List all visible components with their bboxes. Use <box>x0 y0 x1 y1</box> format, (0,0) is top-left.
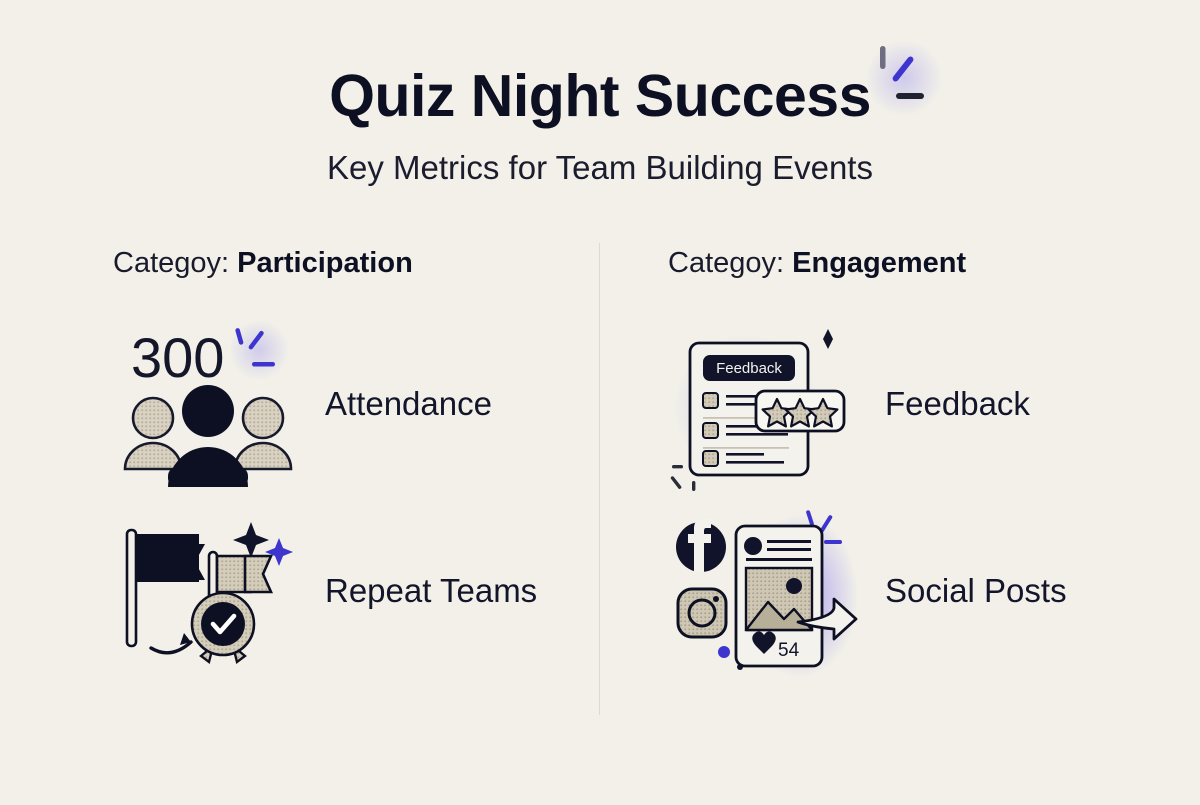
people-group-icon: 300 <box>113 317 303 492</box>
sparkle-dashes-icon <box>859 38 949 128</box>
title-row: Quiz Night Success <box>329 66 871 128</box>
feedback-card-title-text: Feedback <box>716 360 782 377</box>
metric-repeat-teams: Repeat Teams <box>113 504 613 679</box>
category-label: Categoy: <box>668 247 792 279</box>
metric-label-attendance: Attendance <box>325 386 492 422</box>
category-heading-engagement: Categoy: Engagement <box>668 246 1168 281</box>
social-post-icon: 54 <box>668 504 863 679</box>
attendance-value-text: 300 <box>131 326 224 389</box>
facebook-icon <box>676 519 726 572</box>
metric-label-social-posts: Social Posts <box>885 573 1067 609</box>
metric-social-posts: 54 Social Posts <box>668 504 1168 679</box>
metric-label-repeat-teams: Repeat Teams <box>325 573 537 609</box>
category-label: Categoy: <box>113 247 237 279</box>
infographic-canvas: Quiz Night Success Key Metrics for T <box>0 0 1200 805</box>
page-subtitle: Key Metrics for Team Building Events <box>0 150 1200 186</box>
metric-feedback: Feedback <box>668 317 1168 492</box>
header: Quiz Night Success Key Metrics for T <box>0 66 1200 186</box>
category-heading-participation: Categoy: Participation <box>113 246 613 281</box>
column-engagement: Categoy: Engagement <box>668 246 1168 679</box>
category-value: Participation <box>237 247 413 279</box>
category-value: Engagement <box>792 247 966 279</box>
page-title: Quiz Night Success <box>329 66 871 128</box>
flags-award-icon <box>113 504 303 679</box>
feedback-form-icon: Feedback <box>668 317 863 492</box>
column-participation: Categoy: Participation <box>113 246 613 679</box>
instagram-icon <box>678 589 726 637</box>
star-rating-group <box>763 399 838 426</box>
metric-attendance: 300 Attendance <box>113 317 613 492</box>
metric-label-feedback: Feedback <box>885 386 1030 422</box>
likes-count-text: 54 <box>778 640 800 661</box>
